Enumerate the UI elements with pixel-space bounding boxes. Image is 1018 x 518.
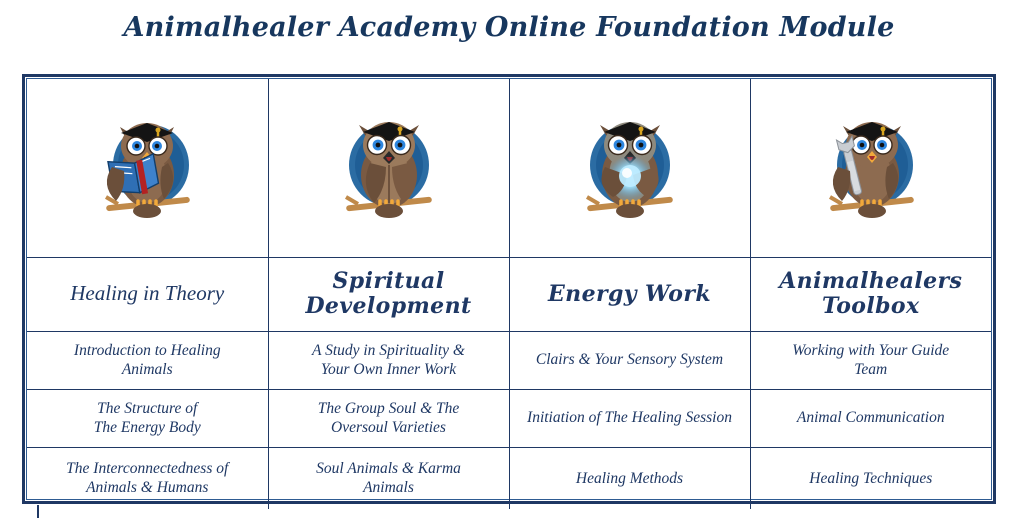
topic-label: Healing Techniques xyxy=(755,469,988,488)
topic-label: Animal Communication xyxy=(755,408,988,427)
topic-label: Working with Your Guide Team xyxy=(755,341,988,380)
topic-label: Healing Methods xyxy=(514,469,746,488)
topic-cell: Healing Techniques xyxy=(750,447,991,509)
topic-cell: Soul Animals & Karma Animals xyxy=(268,447,509,509)
column-heading-animalhealers-toolbox: Animalhealers Toolbox xyxy=(750,257,991,331)
topic-label: Clairs & Your Sensory System xyxy=(514,350,746,369)
topic-cell: The Interconnectedness of Animals & Huma… xyxy=(27,447,268,509)
cell-icon-energy-work xyxy=(509,79,750,257)
topic-label: The Group Soul & The Oversoul Varieties xyxy=(273,399,505,438)
topic-label: A Study in Spirituality & Your Own Inner… xyxy=(273,341,505,380)
table-row-topic-3: The Interconnectedness of Animals & Huma… xyxy=(27,447,991,509)
owl-with-energy-ball-icon xyxy=(571,105,689,230)
cell-icon-healing-in-theory xyxy=(27,79,268,257)
table-row-images xyxy=(27,79,991,257)
topic-cell: Animal Communication xyxy=(750,389,991,447)
topic-cell: Introduction to Healing Animals xyxy=(27,331,268,389)
cell-icon-spiritual-development xyxy=(268,79,509,257)
course-module-table: Healing in Theory Spiritual Development … xyxy=(27,79,991,509)
column-heading-energy-work: Energy Work xyxy=(509,257,750,331)
course-module-table-frame: Healing in Theory Spiritual Development … xyxy=(22,74,996,504)
table-row-topic-2: The Structure of The Energy Body The Gro… xyxy=(27,389,991,447)
text-cursor xyxy=(37,505,39,518)
page-title: Animalhealer Academy Online Foundation M… xyxy=(0,0,1018,40)
heading-label: Energy Work xyxy=(514,282,746,307)
column-heading-healing-in-theory: Healing in Theory xyxy=(27,257,268,331)
topic-cell: The Structure of The Energy Body xyxy=(27,389,268,447)
table-row-headings: Healing in Theory Spiritual Development … xyxy=(27,257,991,331)
topic-label: Introduction to Healing Animals xyxy=(31,341,264,380)
topic-label: Soul Animals & Karma Animals xyxy=(273,459,505,498)
course-module-table-inner-border: Healing in Theory Spiritual Development … xyxy=(26,78,992,500)
owl-meditating-icon xyxy=(330,105,448,230)
heading-label: Animalhealers Toolbox xyxy=(755,269,988,318)
column-heading-spiritual-development: Spiritual Development xyxy=(268,257,509,331)
owl-with-book-icon xyxy=(88,105,206,230)
topic-cell: Working with Your Guide Team xyxy=(750,331,991,389)
owl-with-wrench-icon xyxy=(812,105,930,230)
topic-cell: Healing Methods xyxy=(509,447,750,509)
heading-label: Spiritual Development xyxy=(273,269,505,318)
heading-label: Healing in Theory xyxy=(31,282,264,306)
topic-cell: The Group Soul & The Oversoul Varieties xyxy=(268,389,509,447)
topic-cell: Clairs & Your Sensory System xyxy=(509,331,750,389)
topic-cell: Initiation of The Healing Session xyxy=(509,389,750,447)
topic-label: The Interconnectedness of Animals & Huma… xyxy=(31,459,264,498)
topic-label: The Structure of The Energy Body xyxy=(31,399,264,438)
topic-label: Initiation of The Healing Session xyxy=(514,408,746,427)
table-row-topic-1: Introduction to Healing Animals A Study … xyxy=(27,331,991,389)
topic-cell: A Study in Spirituality & Your Own Inner… xyxy=(268,331,509,389)
cell-icon-animalhealers-toolbox xyxy=(750,79,991,257)
